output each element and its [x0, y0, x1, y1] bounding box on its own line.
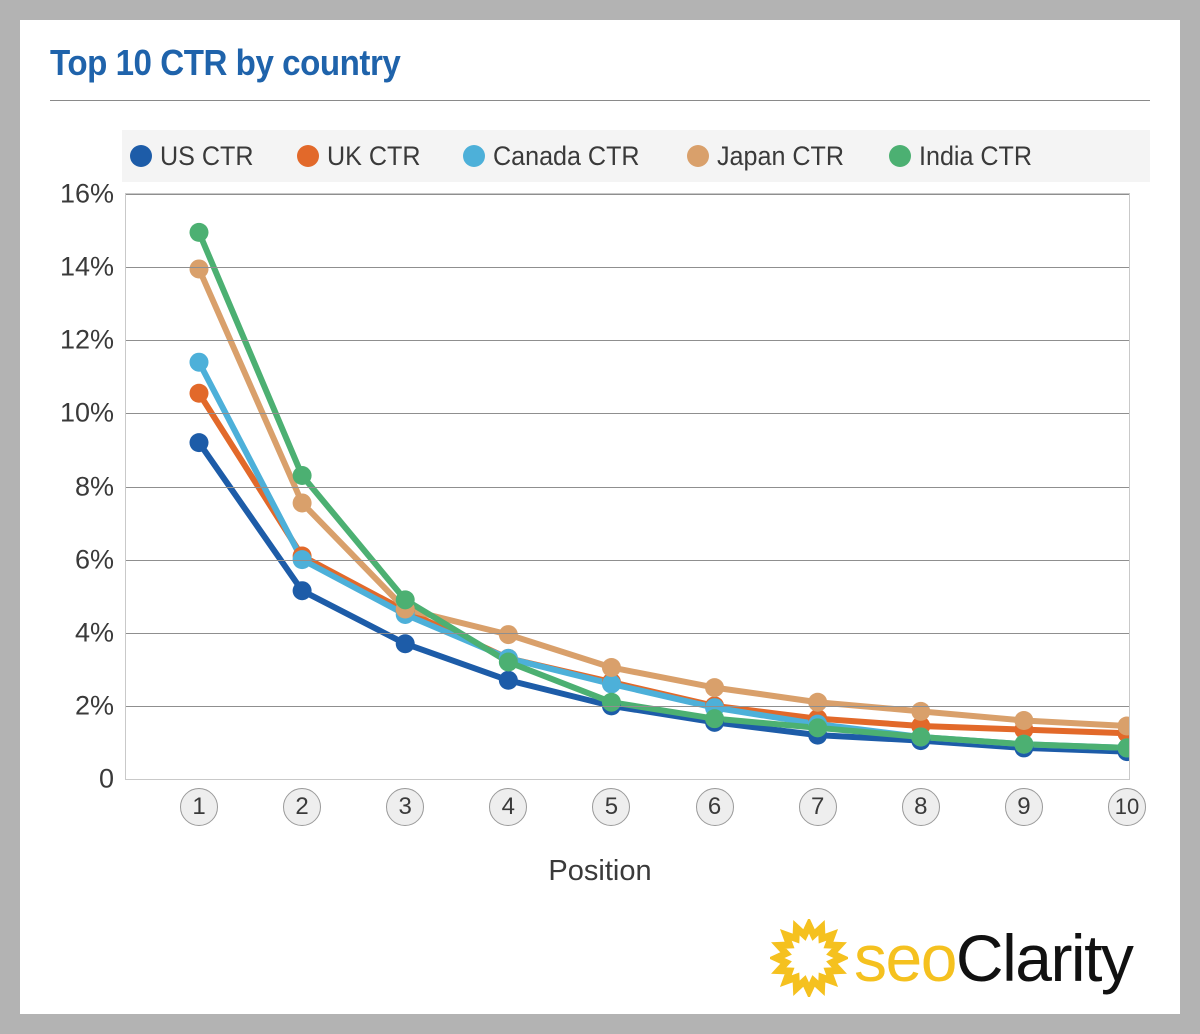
chart-card: Top 10 CTR by country US CTRUK CTRCanada…	[20, 20, 1180, 1014]
data-point[interactable]	[705, 678, 724, 697]
data-point[interactable]	[808, 693, 827, 712]
data-point[interactable]	[602, 693, 621, 712]
data-point[interactable]	[1014, 711, 1033, 730]
gridline	[126, 413, 1129, 414]
y-axis-tick-label: 0	[99, 764, 114, 795]
gridline	[126, 487, 1129, 488]
x-axis-tick-badge[interactable]: 8	[902, 788, 940, 826]
y-axis-tick-label: 8%	[75, 471, 114, 502]
logo-word-seo: seo	[854, 921, 956, 995]
gridline	[126, 194, 1129, 195]
data-point[interactable]	[911, 702, 930, 721]
logo-wordmark: seoClarity	[854, 925, 1132, 991]
logo-word-clarity: Clarity	[956, 921, 1133, 995]
data-point[interactable]	[911, 727, 930, 746]
x-axis-tick-badge[interactable]: 4	[489, 788, 527, 826]
data-point[interactable]	[499, 671, 518, 690]
x-axis-labels: 12345678910	[125, 788, 1130, 832]
x-axis-tick-badge[interactable]: 10	[1108, 788, 1146, 826]
gridline	[126, 340, 1129, 341]
series-line	[199, 232, 1127, 748]
data-point[interactable]	[190, 223, 209, 242]
x-axis-tick-badge[interactable]: 6	[696, 788, 734, 826]
data-point[interactable]	[190, 353, 209, 372]
y-axis-tick-label: 14%	[60, 252, 114, 283]
data-point[interactable]	[396, 634, 415, 653]
data-point[interactable]	[190, 433, 209, 452]
data-point[interactable]	[499, 625, 518, 644]
data-point[interactable]	[293, 466, 312, 485]
x-axis-tick-badge[interactable]: 2	[283, 788, 321, 826]
gridline	[126, 560, 1129, 561]
gridline	[126, 706, 1129, 707]
data-point[interactable]	[499, 653, 518, 672]
y-axis-tick-label: 6%	[75, 544, 114, 575]
y-axis-tick-label: 2%	[75, 690, 114, 721]
gridline	[126, 267, 1129, 268]
y-axis-tick-label: 16%	[60, 179, 114, 210]
x-axis-tick-badge[interactable]: 3	[386, 788, 424, 826]
data-point[interactable]	[190, 384, 209, 403]
data-point[interactable]	[190, 259, 209, 278]
data-point[interactable]	[293, 581, 312, 600]
series-line	[199, 393, 1127, 733]
outer-frame: Top 10 CTR by country US CTRUK CTRCanada…	[0, 0, 1200, 1034]
plot-wrapper: 02%4%6%8%10%12%14%16% 12345678910 Positi…	[20, 20, 1180, 1014]
data-point[interactable]	[808, 718, 827, 737]
y-axis-tick-label: 4%	[75, 617, 114, 648]
x-axis-tick-badge[interactable]: 1	[180, 788, 218, 826]
sunburst-icon	[770, 919, 848, 997]
plot-area	[125, 193, 1130, 780]
seoclarity-logo: seoClarity	[770, 915, 1170, 1000]
y-axis-tick-label: 12%	[60, 325, 114, 356]
y-axis-labels: 02%4%6%8%10%12%14%16%	[30, 193, 114, 780]
x-axis-title: Position	[20, 855, 1180, 888]
series-line	[199, 269, 1127, 726]
x-axis-tick-badge[interactable]: 5	[592, 788, 630, 826]
data-point[interactable]	[602, 658, 621, 677]
x-axis-tick-badge[interactable]: 9	[1005, 788, 1043, 826]
gridline	[126, 633, 1129, 634]
x-axis-tick-badge[interactable]: 7	[799, 788, 837, 826]
data-point[interactable]	[396, 590, 415, 609]
y-axis-tick-label: 10%	[60, 398, 114, 429]
series-line	[199, 362, 1127, 748]
data-point[interactable]	[1014, 735, 1033, 754]
data-point[interactable]	[293, 493, 312, 512]
data-point[interactable]	[705, 709, 724, 728]
data-point[interactable]	[602, 674, 621, 693]
